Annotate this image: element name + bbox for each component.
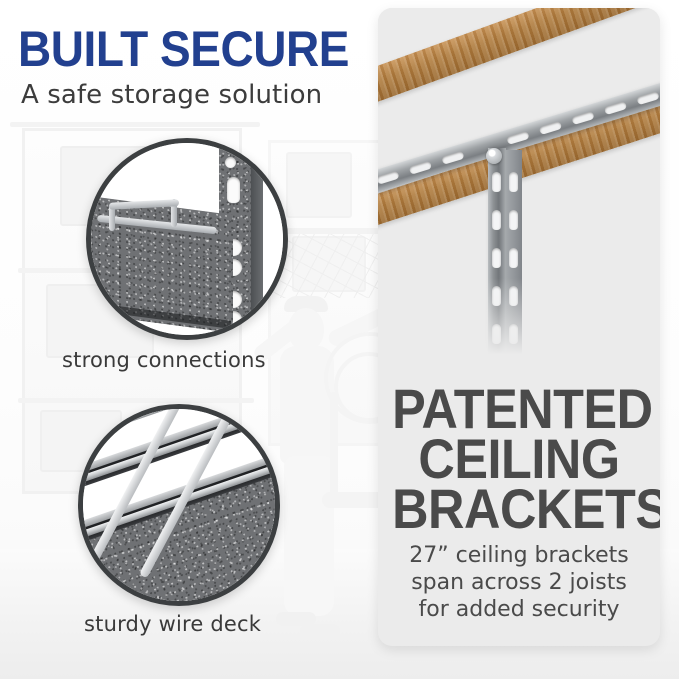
bracket-slot	[604, 101, 627, 115]
bracket-keyhole-slot	[492, 172, 501, 192]
background-shelf-rail	[10, 122, 260, 127]
bracket-post-edge	[251, 143, 263, 335]
feature-photo-strong-connections	[86, 138, 288, 340]
bracket-slot	[506, 131, 529, 145]
bracket-bolt	[486, 148, 502, 164]
bracket-slot	[409, 161, 432, 175]
background-storage-bin	[286, 152, 352, 218]
background-shelf-rail	[18, 398, 254, 403]
bracket-slot	[571, 111, 594, 125]
wooden-joist	[378, 8, 660, 107]
bracket-slot	[441, 151, 464, 165]
caption-strong-connections: strong connections	[62, 348, 266, 372]
patented-ceiling-brackets-panel: PATENTED CEILING BRACKETS 27” ceiling br…	[378, 8, 660, 646]
bracket-slot	[378, 171, 400, 185]
ceiling-bracket-photo	[378, 8, 660, 368]
bracket-slot	[539, 121, 562, 135]
panel-body-line: for added security	[384, 596, 654, 623]
bracket-keyhole-slot	[509, 210, 518, 230]
background-bicycle-frame	[330, 392, 338, 500]
bracket-round-hole	[225, 157, 236, 168]
background-person-shoe	[300, 624, 340, 638]
ceiling-bracket-vertical	[488, 148, 506, 368]
panel-title-line: BRACKETS	[392, 484, 646, 534]
bracket-slot	[636, 91, 659, 105]
bracket-keyhole-slot	[509, 286, 518, 306]
bracket-keyhole-slot	[509, 172, 518, 192]
bracket-keyhole-slot	[492, 210, 501, 230]
page-subtitle: A safe storage solution	[21, 80, 322, 110]
ceiling-bracket-vertical-face	[506, 150, 522, 368]
bracket-keyhole-slot	[492, 248, 501, 268]
panel-body-line: span across 2 joists	[384, 569, 654, 596]
product-feature-image: BUILT SECURE A safe storage solution st	[0, 0, 679, 679]
bracket-keyhole-slot	[492, 324, 501, 344]
bracket-keyhole-slot	[509, 324, 518, 344]
caption-wire-deck: sturdy wire deck	[84, 612, 261, 636]
bracket-keyhole-slot	[227, 177, 240, 203]
panel-body: 27” ceiling brackets span across 2 joist…	[384, 542, 654, 623]
bracket-keyhole-slot	[492, 286, 501, 306]
panel-body-line: 27” ceiling brackets	[384, 542, 654, 569]
panel-title: PATENTED CEILING BRACKETS	[392, 384, 646, 534]
page-title: BUILT SECURE	[18, 26, 349, 72]
feature-photo-wire-deck	[78, 404, 280, 606]
bracket-keyhole-slot	[509, 248, 518, 268]
background-person-legs	[284, 456, 334, 616]
